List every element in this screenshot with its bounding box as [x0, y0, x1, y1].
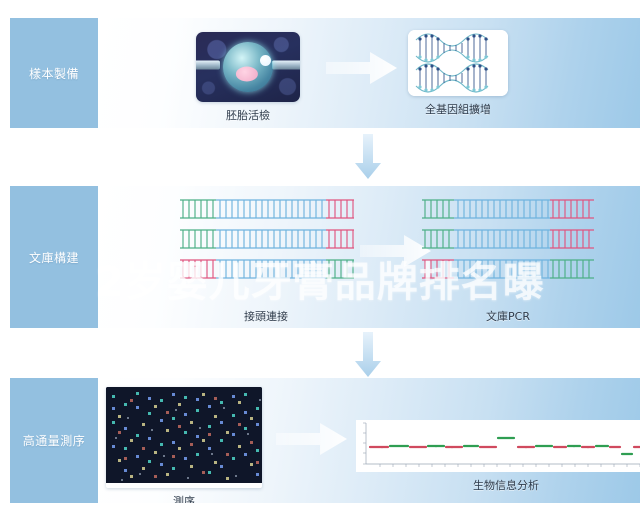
item-embryo-biopsy[interactable]: 胚胎活檢	[196, 32, 300, 123]
row-content-high-throughput-sequencing: 測序	[98, 378, 640, 503]
sidebar-label-high-throughput-sequencing: 高通量測序	[10, 378, 98, 503]
sidebar-label-sample-prep: 樣本製備	[10, 18, 98, 128]
dna-strands-illustration-pcr	[418, 196, 598, 298]
workflow-diagram: 樣本製備 胚胎活檢	[0, 0, 640, 513]
embryo-biopsy-thumbnail	[196, 32, 300, 102]
row-library-construction: 文庫構建	[0, 186, 640, 328]
arrow-down-icon-2	[354, 332, 382, 378]
x-ticks	[380, 464, 640, 467]
item-sequencing[interactable]: 測序	[106, 387, 262, 503]
item-bioinformatics-analysis[interactable]: 生物信息分析	[356, 420, 640, 493]
item-whole-genome-amplification[interactable]: 全基因組擴增	[408, 30, 508, 117]
item-caption: 胚胎活檢	[196, 107, 300, 123]
wga-thumbnail	[408, 30, 508, 96]
row-content-sample-prep: 胚胎活檢	[98, 18, 640, 128]
sequencing-thumbnail	[106, 387, 262, 488]
sidebar-label-library-construction: 文庫構建	[10, 186, 98, 328]
arrow-down-icon-1	[354, 134, 382, 180]
flowcell-image	[106, 387, 262, 483]
item-adapter-ligation[interactable]: 接頭連接	[176, 196, 356, 324]
pipette-right-icon	[272, 60, 300, 69]
item-caption: 文庫PCR	[418, 308, 598, 324]
dna-strands-illustration-ligation	[176, 196, 356, 298]
item-caption: 測序	[106, 493, 262, 503]
row-high-throughput-sequencing: 高通量測序	[0, 378, 640, 503]
pipette-left-icon	[196, 60, 220, 69]
embryo-illustration	[196, 32, 300, 102]
row-content-library-construction: 接頭連接	[98, 186, 640, 328]
sidebar-item-label: 樣本製備	[29, 65, 79, 82]
cnv-plot-svg	[356, 420, 640, 472]
inner-cell-mass-shape	[236, 67, 258, 82]
cnv-plot	[356, 420, 640, 472]
item-caption: 生物信息分析	[356, 477, 640, 493]
arrow-right-icon	[276, 422, 348, 456]
sidebar-item-label: 高通量測序	[23, 432, 86, 449]
row-sample-prep: 樣本製備 胚胎活檢	[0, 18, 640, 128]
arrow-right-icon	[326, 51, 398, 85]
item-caption: 全基因組擴增	[408, 101, 508, 117]
item-caption: 接頭連接	[176, 308, 356, 324]
item-library-pcr[interactable]: 文庫PCR	[418, 196, 598, 324]
sidebar-item-label: 文庫構建	[29, 249, 79, 266]
dna-helix-illustration	[408, 30, 508, 96]
